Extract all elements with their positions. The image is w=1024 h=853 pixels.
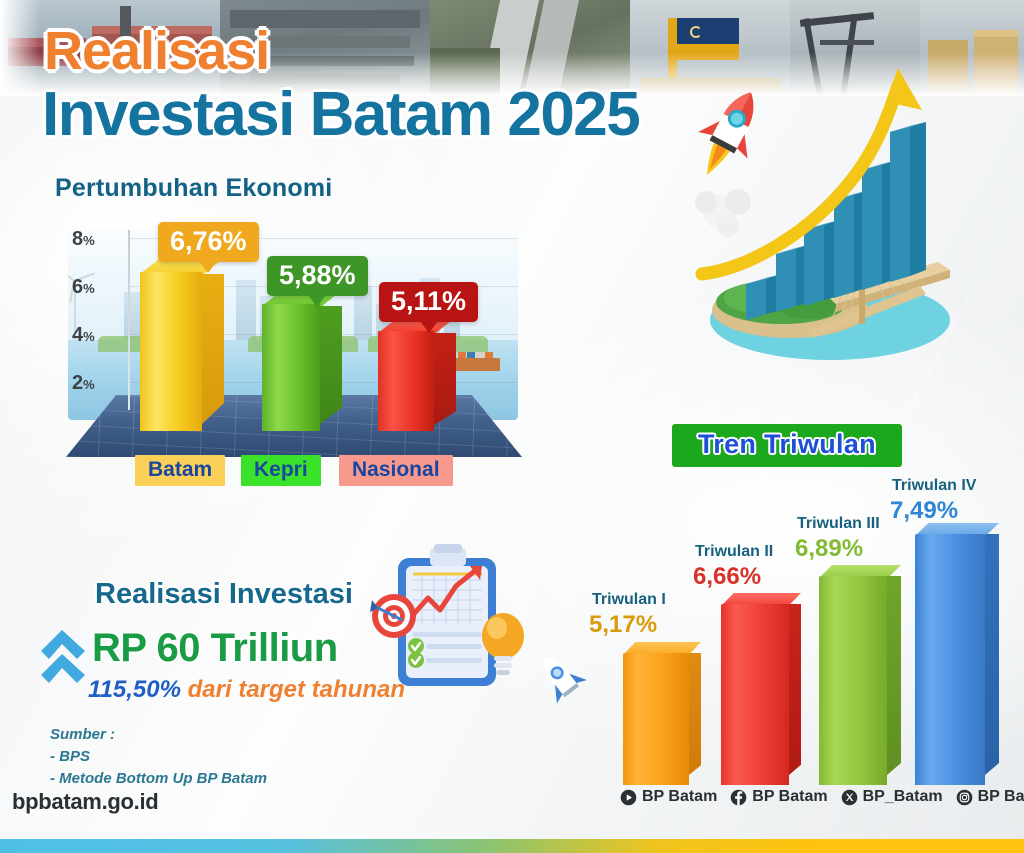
check-icon — [408, 652, 424, 668]
social-label: BP Batam — [642, 788, 717, 806]
quarter-label-1: Triwulan I — [592, 591, 666, 609]
page-title: Investasi Batam 2025 — [42, 84, 639, 146]
bar-side — [689, 653, 701, 775]
investment-amount: RP 60 Trilliun — [92, 626, 338, 671]
social-label: BP Batam — [752, 788, 827, 806]
callout-value: 5,88% — [279, 260, 356, 290]
tren-triwulan-badge: Tren Triwulan — [672, 424, 902, 467]
hero-bar-5 — [862, 164, 882, 290]
quarter-label-2: Triwulan II — [695, 543, 773, 561]
hero-bar-2 — [776, 248, 796, 312]
quarter-value-3: 6,89% — [795, 535, 863, 563]
rocket-smoke — [695, 189, 751, 237]
bar-side — [789, 604, 801, 775]
clipboard-target-chart-icon — [358, 540, 538, 712]
check-icon — [408, 638, 424, 654]
bar-side — [202, 274, 224, 424]
cargo-ship-icon — [454, 358, 500, 371]
growth-hero-illustration — [690, 62, 1020, 412]
bar-kepri — [262, 290, 320, 433]
source-line-2: - Metode Bottom Up BP Batam — [50, 768, 267, 790]
hero-bar-1 — [746, 278, 766, 320]
bar-front — [623, 653, 689, 785]
social-item-x-twitter[interactable]: BP_Batam — [841, 788, 943, 806]
category-pill-kepri: Kepri — [241, 455, 321, 486]
source-label: Sumber : — [50, 724, 267, 746]
x-twitter-icon — [841, 789, 858, 806]
social-links: BP Batam BP Batam BP_Batam BP Batam — [620, 788, 1024, 806]
hero-bar-4 — [834, 194, 854, 298]
infographic-poster: Realisasi Investasi Batam 2025 Pertumbuh… — [0, 0, 1024, 853]
bar-side — [320, 306, 342, 424]
source-line-1: - BPS — [50, 746, 267, 768]
investment-title: Realisasi Investasi — [95, 578, 353, 611]
hero-svg — [690, 62, 1020, 412]
quarter-label-4: Triwulan IV — [892, 477, 976, 495]
category-pill-batam: Batam — [135, 455, 225, 486]
bar-triwulan-3 — [819, 565, 887, 785]
growth-arrow-head — [880, 68, 922, 120]
social-label: BP Batam — [978, 788, 1024, 806]
instagram-icon — [956, 789, 973, 806]
social-item-instagram[interactable]: BP Batam — [956, 788, 1024, 806]
callout-value: 5,11% — [391, 286, 466, 316]
bar-side — [887, 576, 901, 775]
social-item-youtube[interactable]: BP Batam — [620, 788, 717, 806]
website-url[interactable]: bpbatam.go.id — [12, 789, 158, 815]
source-block: Sumber : - BPS - Metode Bottom Up BP Bat… — [50, 724, 267, 789]
category-pill-nasional: Nasional — [339, 455, 453, 486]
footer-gradient-bar — [0, 839, 1024, 853]
bar-nasional — [378, 317, 434, 433]
bar-side — [985, 534, 999, 775]
bar-triwulan-2 — [721, 593, 789, 785]
target-icon — [370, 594, 416, 638]
rocket-icon — [690, 79, 776, 188]
economic-growth-chart: 8% 6% 4% 2% 6,76% 5,88% 5,11% — [30, 212, 530, 492]
value-callout-kepri: 5,88% — [267, 256, 368, 296]
growth-section-heading: Pertumbuhan Ekonomi — [55, 174, 332, 203]
bar-front — [140, 272, 202, 431]
hero-bar-3 — [804, 224, 824, 306]
bar-batam — [140, 258, 202, 433]
bar-front — [262, 304, 320, 431]
social-label: BP_Batam — [863, 788, 943, 806]
value-callout-nasional: 5,11% — [379, 282, 478, 322]
y-tick-8: 8% — [72, 228, 530, 251]
double-chevron-up-icon — [33, 617, 95, 689]
bar-front — [721, 604, 789, 785]
social-item-facebook[interactable]: BP Batam — [730, 788, 827, 806]
quarterly-trend-chart: Triwulan I 5,17% Triwulan II 6,66% Triwu… — [575, 465, 1024, 785]
facebook-icon — [730, 789, 747, 806]
callout-value: 6,76% — [170, 226, 247, 256]
youtube-icon — [620, 789, 637, 806]
bar-front — [378, 331, 434, 431]
bar-triwulan-4 — [915, 523, 985, 785]
small-rocket-icon — [540, 640, 598, 710]
bar-front — [819, 576, 887, 785]
investment-percent: 115,50% — [88, 676, 181, 703]
title-realisasi: Realisasi — [44, 24, 269, 78]
quarter-value-1: 5,17% — [589, 611, 657, 639]
hero-bar-6 — [890, 126, 910, 282]
quarter-label-3: Triwulan III — [797, 515, 880, 533]
bar-triwulan-1 — [623, 642, 689, 785]
quarter-value-2: 6,66% — [693, 563, 761, 591]
tren-triwulan-label: Tren Triwulan — [698, 429, 876, 459]
bar-side — [434, 333, 456, 425]
bar-front — [915, 534, 985, 785]
value-callout-batam: 6,76% — [158, 222, 259, 262]
quarter-value-4: 7,49% — [890, 497, 958, 525]
